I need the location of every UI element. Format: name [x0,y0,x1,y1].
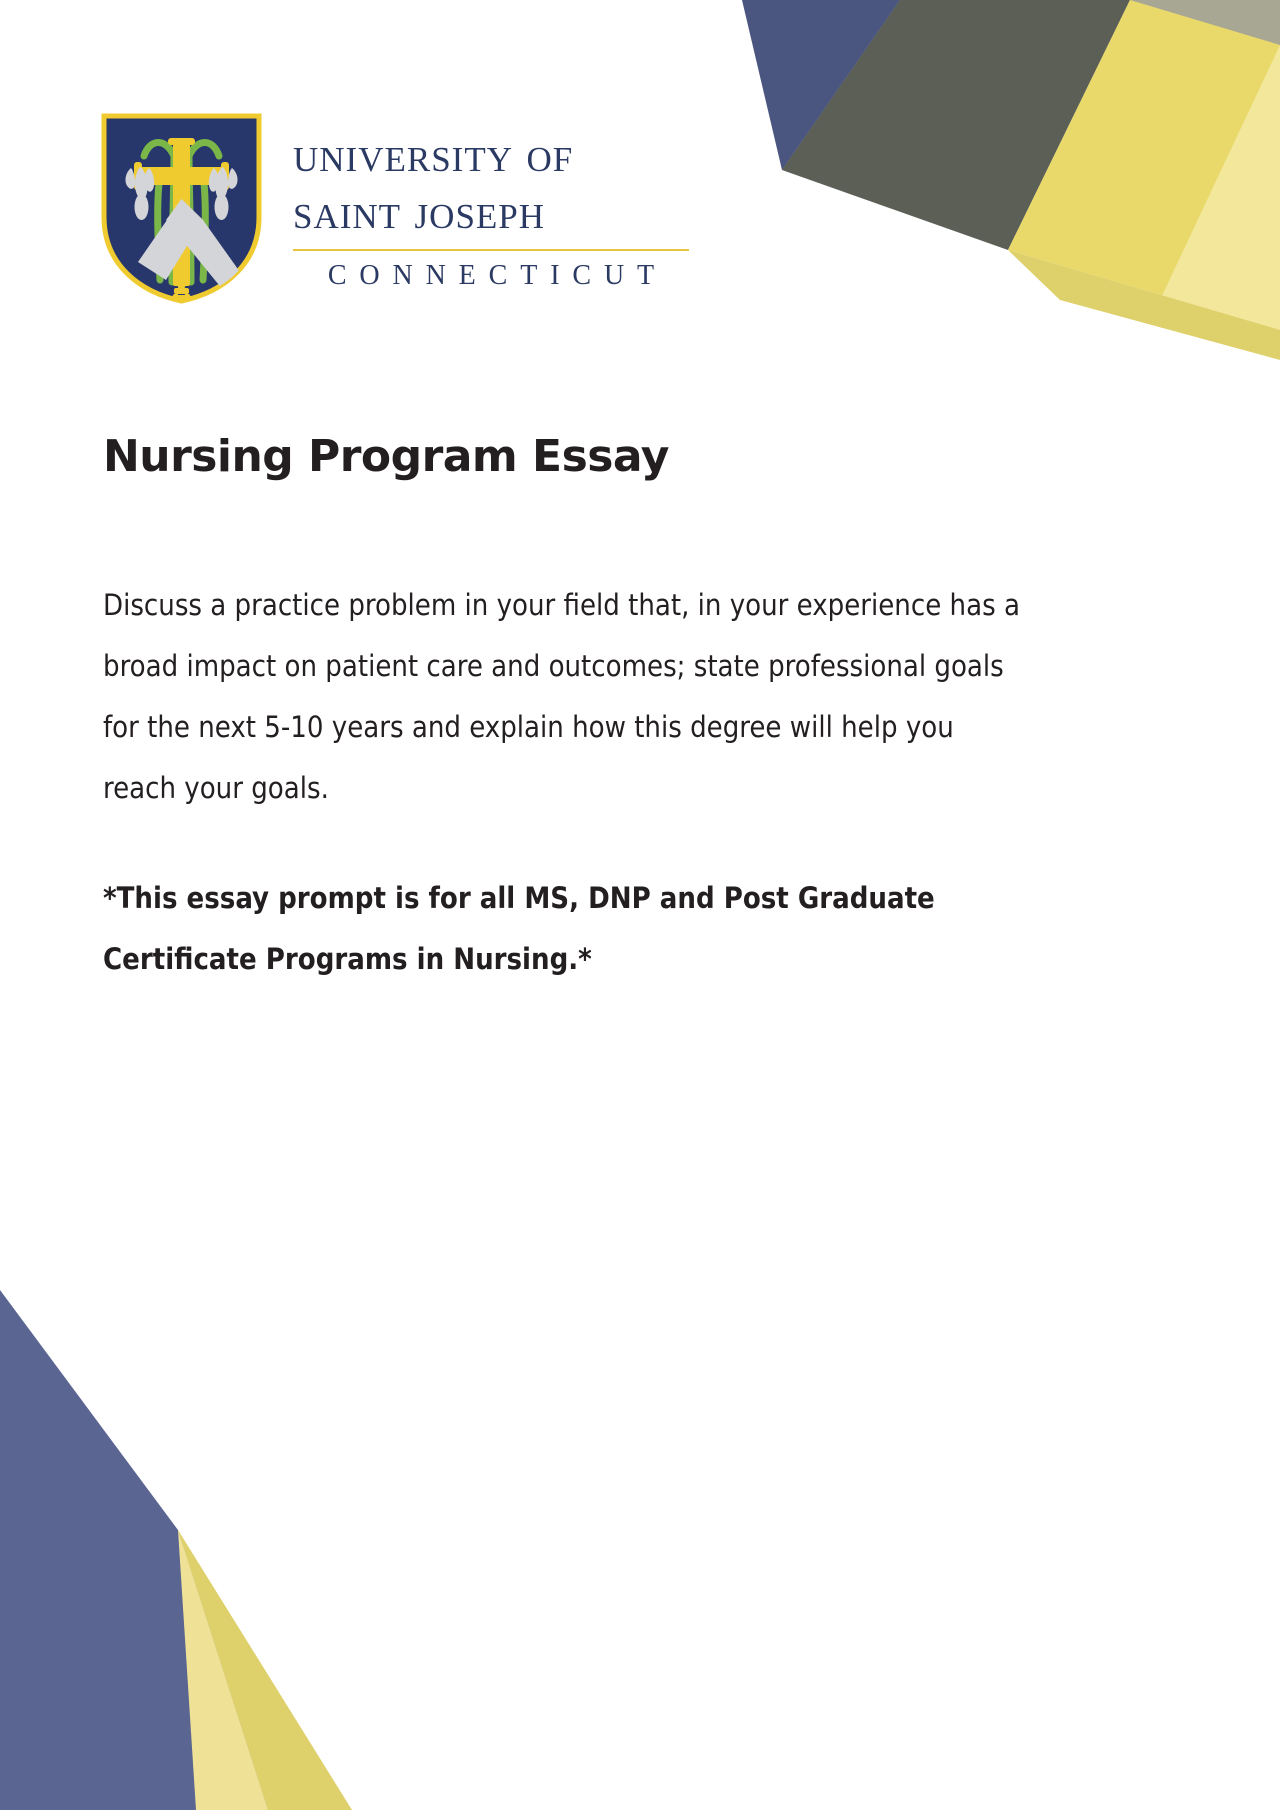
deco-bottom-slate-wedge [0,1290,178,1810]
deco-bottom-gold-wedge [178,1530,268,1810]
deco-top-navy-wedge-2 [782,0,948,170]
deco-top-warmgray-wedge [1130,0,1280,278]
deco-top-navy-wedge [742,0,900,170]
university-masthead: University of Saint Joseph CONNECTICUT [100,112,689,305]
document-content: Nursing Program Essay Discuss a practice… [103,432,1173,990]
university-wordmark: University of Saint Joseph CONNECTICUT [293,112,689,292]
wordmark-divider-rule [293,249,689,251]
deco-top-gold-wedge [1008,0,1280,330]
wordmark-state-label: CONNECTICUT [293,260,689,292]
page-title: Nursing Program Essay [103,432,1173,483]
deco-bottom-slate-wedge-2 [0,1530,268,1810]
essay-prompt-paragraph: Discuss a practice problem in your field… [103,575,1033,819]
wordmark-line-1: University of [293,126,689,183]
university-crest-logo [100,112,263,305]
deco-top-gold-wedge-2 [1008,250,1280,360]
essay-prompt-block: Discuss a practice problem in your field… [103,575,1173,990]
deco-bottom-darkgold-wedge [178,1530,352,1810]
deco-top-olive-wedge [782,0,1130,250]
essay-prompt-note: *This essay prompt is for all MS, DNP an… [103,868,1003,990]
wordmark-line-2: Saint Joseph [293,183,689,240]
deco-top-paleyellow-wedge [1160,45,1280,330]
